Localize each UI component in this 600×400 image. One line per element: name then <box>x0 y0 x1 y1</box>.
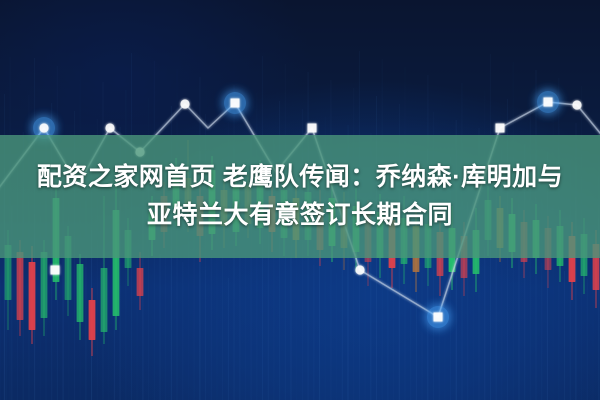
banner-image: 配资之家网首页 老鹰队传闻：乔纳森·库明加与 亚特兰大有意签订长期合同 <box>0 0 600 400</box>
headline-line-1: 配资之家网首页 老鹰队传闻：乔纳森·库明加与 <box>37 162 563 193</box>
headline-text: 配资之家网首页 老鹰队传闻：乔纳森·库明加与 亚特兰大有意签订长期合同 <box>0 135 600 258</box>
headline-line-2: 亚特兰大有意签订长期合同 <box>147 200 453 231</box>
